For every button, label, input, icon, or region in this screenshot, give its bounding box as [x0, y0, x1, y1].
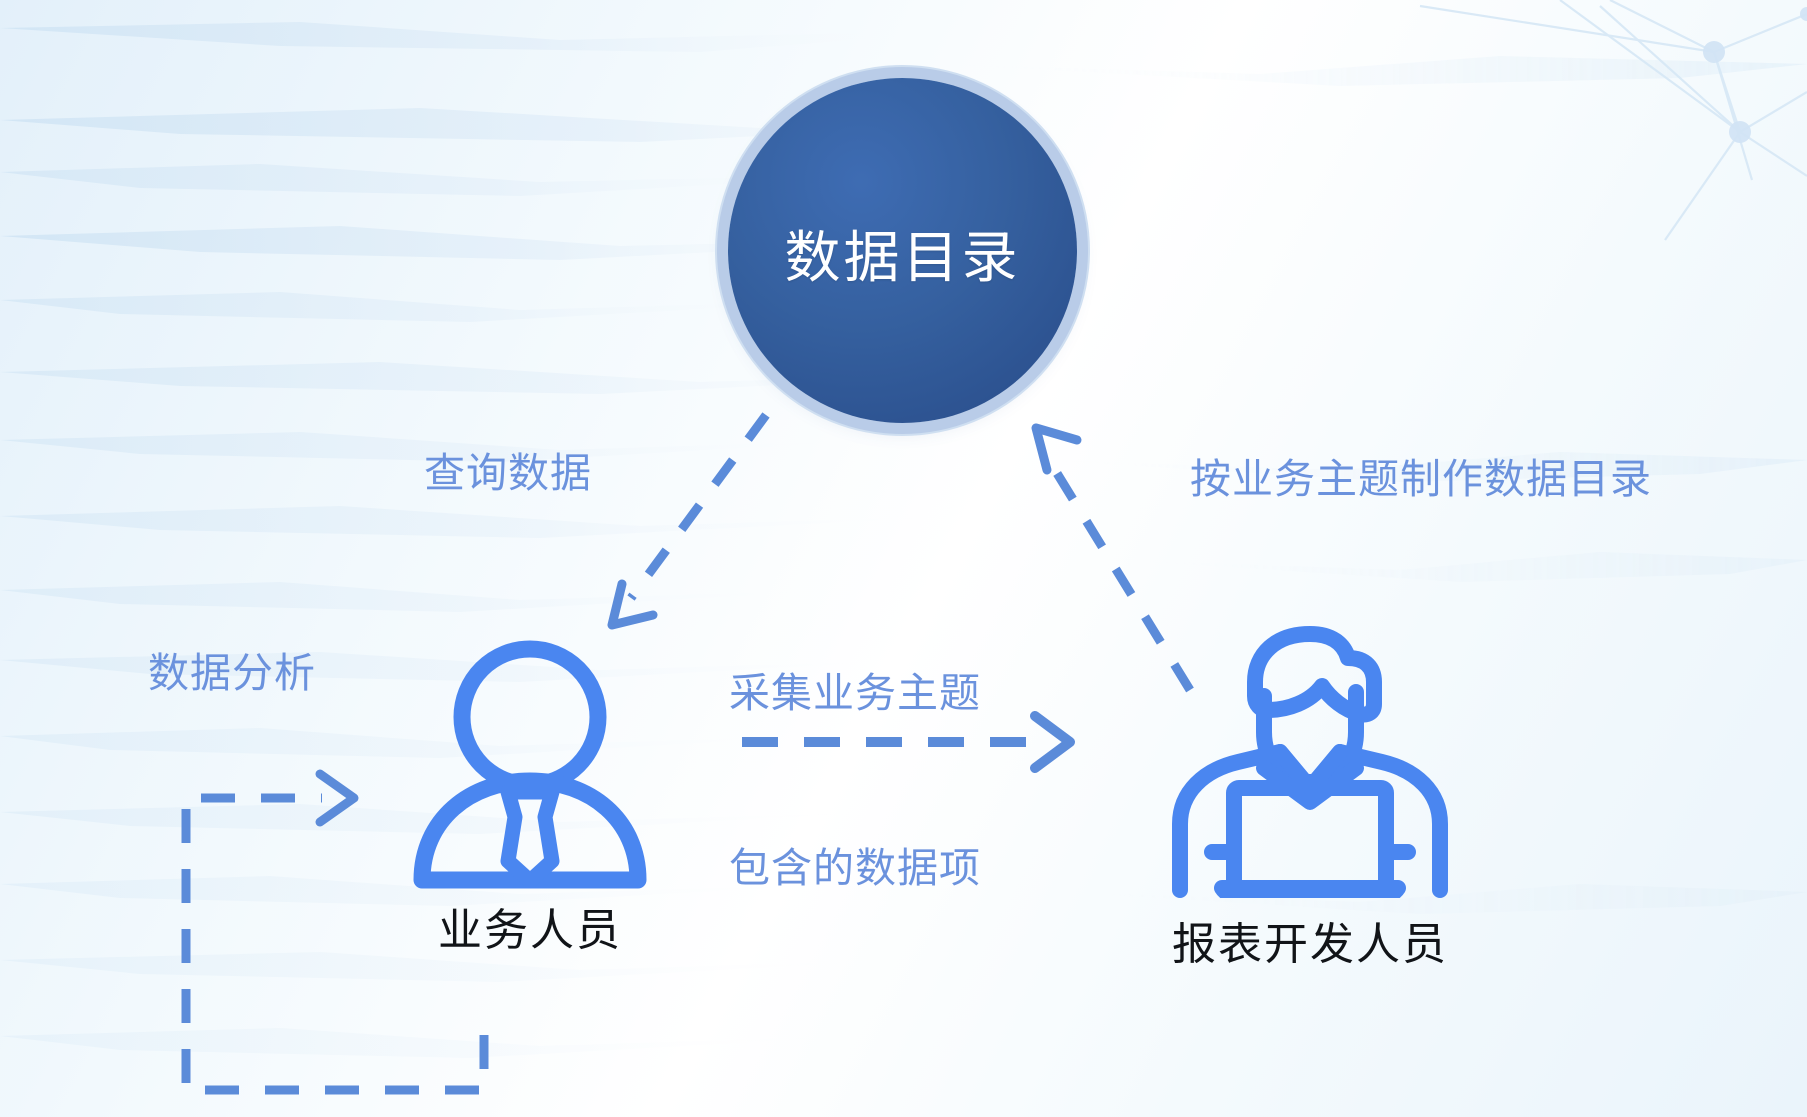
edge-label-build-catalog: 按业务主题制作数据目录: [1190, 450, 1652, 508]
edge-label-query-data: 查询数据: [424, 444, 592, 502]
actor-business-user[interactable]: 业务人员: [390, 640, 670, 958]
edge-label-data-analysis: 数据分析: [148, 644, 316, 702]
edge-label-collect-items-line1: 采集业务主题: [729, 664, 981, 722]
person-tie-icon: [396, 640, 664, 890]
actor-report-developer[interactable]: 报表开发人员: [1155, 620, 1465, 972]
edge-label-collect-items-line2: 包含的数据项: [729, 839, 981, 897]
diagram-canvas: 数据目录 查询数据 按业务主题制作数据目录 采集业务主题 包含的数据项 数据分析…: [0, 0, 1807, 1117]
hub-node-label: 数据目录: [785, 231, 1021, 287]
actor-business-user-name: 业务人员: [438, 894, 622, 958]
person-laptop-icon: [1160, 620, 1460, 898]
hub-node-data-catalog[interactable]: 数据目录: [728, 78, 1077, 423]
actor-report-developer-name: 报表开发人员: [1172, 908, 1448, 972]
edge-label-collect-items: 采集业务主题 包含的数据项: [729, 548, 981, 1014]
